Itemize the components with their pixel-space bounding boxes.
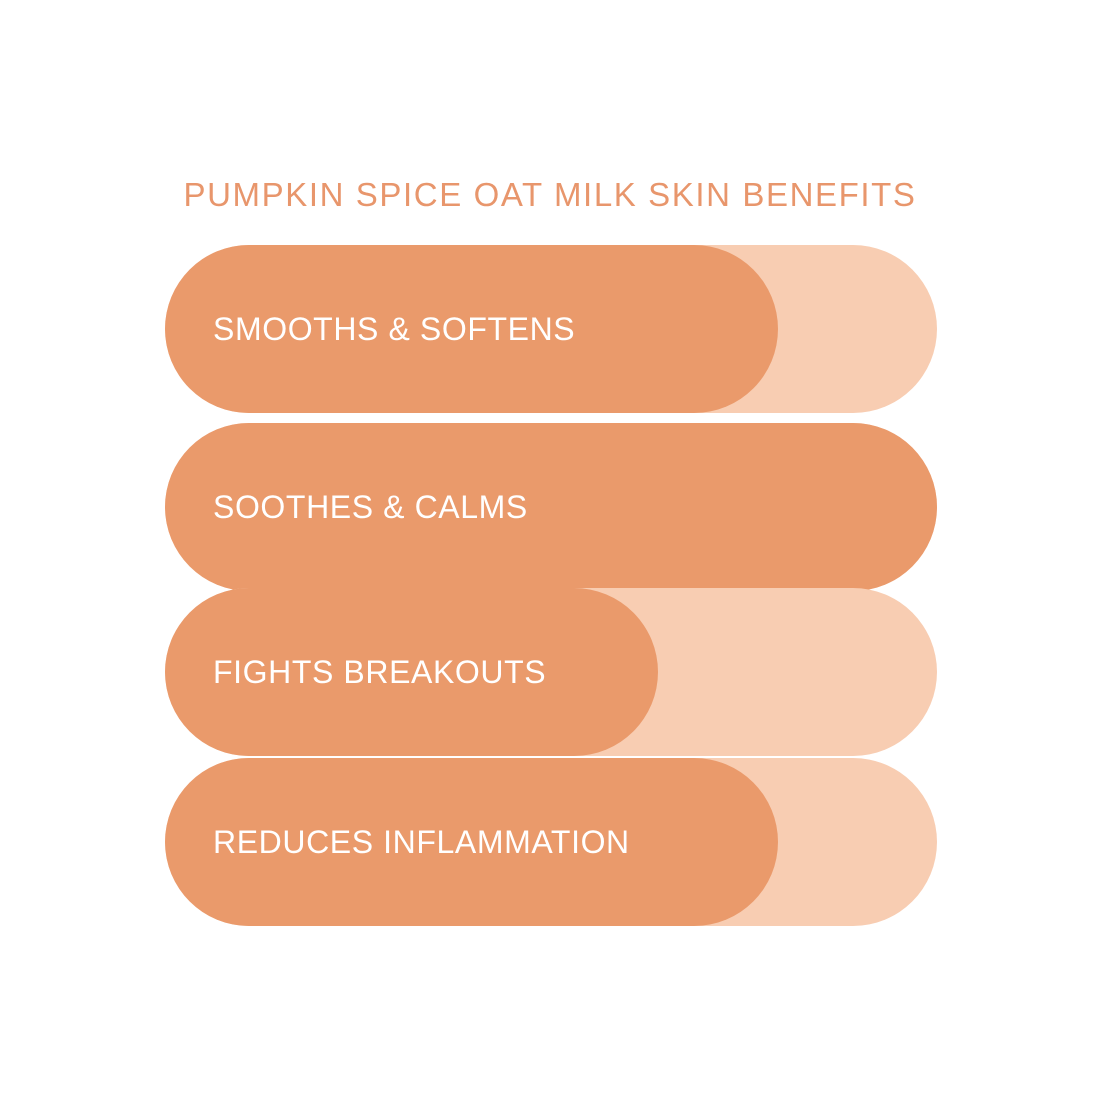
infographic-canvas: PUMPKIN SPICE OAT MILK SKIN BENEFITS SMO… [0, 0, 1100, 1100]
page-title: PUMPKIN SPICE OAT MILK SKIN BENEFITS [0, 175, 1100, 215]
bar-fill [165, 245, 778, 413]
bar-row: FIGHTS BREAKOUTS [165, 588, 937, 756]
bar-fill [165, 588, 658, 756]
bar-fill [165, 758, 778, 926]
benefit-bar-chart: SMOOTHS & SOFTENS SOOTHES & CALMS FIGHTS… [165, 245, 937, 927]
bar-row: SOOTHES & CALMS [165, 423, 937, 591]
bar-row: SMOOTHS & SOFTENS [165, 245, 937, 413]
bar-fill [165, 423, 937, 591]
bar-row: REDUCES INFLAMMATION [165, 758, 937, 926]
